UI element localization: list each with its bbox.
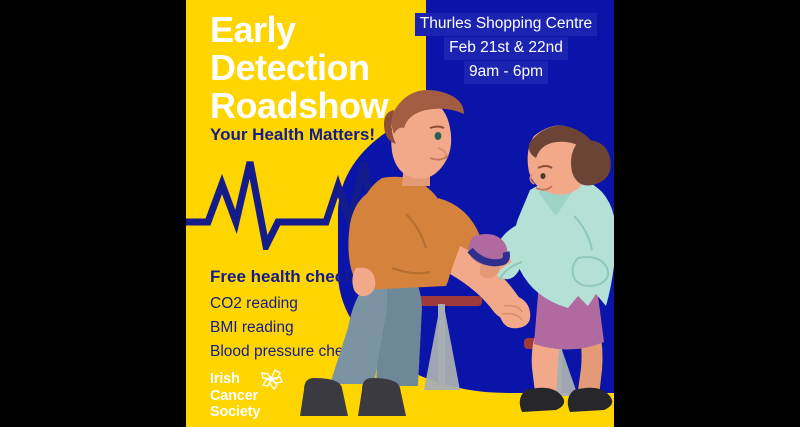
letterbox-bar-right <box>614 0 800 427</box>
event-venue: Thurles Shopping Centre <box>415 13 597 36</box>
event-dates: Feb 21st & 22nd <box>444 37 568 60</box>
screenshot-canvas: Early Detection Roadshow Your Health Mat… <box>0 0 800 427</box>
letterbox-bar-left <box>0 0 186 427</box>
event-details: Thurles Shopping Centre Feb 21st & 22nd … <box>398 13 614 84</box>
nurse-figure <box>468 125 614 412</box>
event-hours: 9am - 6pm <box>464 61 548 84</box>
poster: Early Detection Roadshow Your Health Mat… <box>186 0 614 427</box>
